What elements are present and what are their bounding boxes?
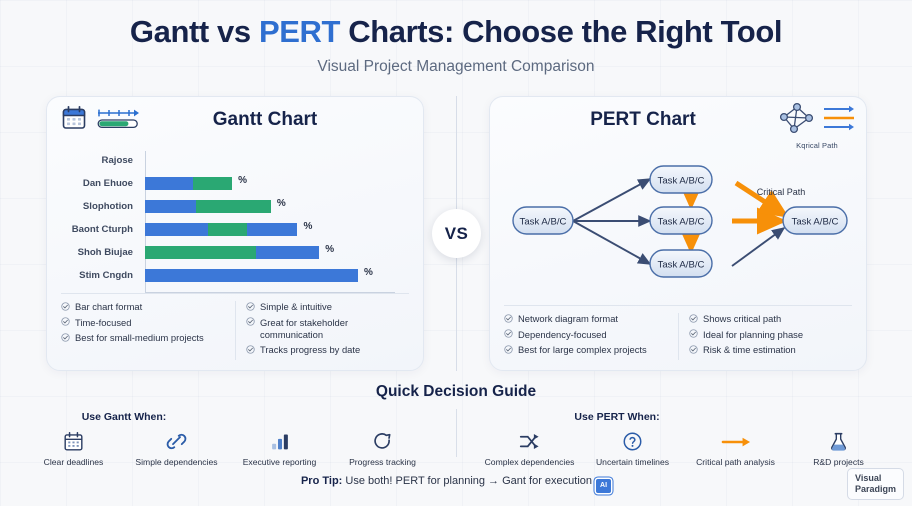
gantt-row-label: Slophotion <box>61 201 141 212</box>
feature-item-label: Time-focused <box>75 317 131 329</box>
gantt-row-label: Shoh Biujae <box>61 247 141 258</box>
gantt-row-label: Dan Ehuoe <box>61 178 141 189</box>
check-circle-icon <box>246 302 255 311</box>
gantt-bar-segment <box>145 223 208 236</box>
pert-node-bottom: Task A/B/C <box>650 250 712 277</box>
page-subtitle: Visual Project Management Comparison <box>0 58 912 76</box>
guide-item-label: Clear deadlines <box>28 457 120 467</box>
flask-icon <box>793 429 885 454</box>
pert-node-mid: Task A/B/C <box>650 207 712 234</box>
gantt-bar-track: % <box>145 177 409 190</box>
feature-item: Best for small-medium projects <box>61 332 227 344</box>
gantt-row: Slophotion% <box>61 195 409 218</box>
check-circle-icon <box>246 345 255 354</box>
gantt-bar-segment <box>145 269 358 282</box>
pert-node-label-top: Task A/B/C <box>658 176 705 187</box>
feature-item-label: Simple & intuitive <box>260 301 332 313</box>
guide-item-label: Complex dependencies <box>484 457 576 467</box>
check-circle-icon <box>504 329 513 338</box>
brand-line-2: Paradigm <box>855 484 896 495</box>
pert-node-top: Task A/B/C <box>650 166 712 193</box>
guide-item-label: Simple dependencies <box>131 457 223 467</box>
gantt-features-right: Simple & intuitiveGreat for stakeholder … <box>235 301 409 360</box>
gantt-row-label: Stim Cngdn <box>61 270 141 281</box>
gantt-bar-value: % <box>303 221 312 232</box>
feature-item: Dependency-focused <box>504 329 670 341</box>
guide-head-pert: Use PERT When: <box>456 411 912 423</box>
gantt-bar-track: % <box>145 200 409 213</box>
guide-item[interactable]: Uncertain timelines <box>587 429 679 467</box>
guide-item-label: R&D projects <box>793 457 885 467</box>
guide-column-gantt: Use Gantt When: Clear deadlinesSimple de… <box>0 411 456 467</box>
network-nodes-icon <box>778 101 816 140</box>
gantt-row: Dan Ehuoe% <box>61 172 409 195</box>
title-accent-pert: PERT <box>259 14 340 49</box>
feature-item-label: Bar chart format <box>75 301 142 313</box>
guide-head-gantt: Use Gantt When: <box>0 411 456 423</box>
feature-item-label: Best for small-medium projects <box>75 332 204 344</box>
gantt-bar-value: % <box>325 244 334 255</box>
ai-chip-icon: AI <box>596 479 611 493</box>
vs-badge: VS <box>432 209 481 258</box>
feature-item: Bar chart format <box>61 301 227 313</box>
gantt-bar-track: % <box>145 246 409 259</box>
gantt-row: Shoh Biujae% <box>61 241 409 264</box>
feature-item: Best for large complex projects <box>504 344 670 356</box>
pert-panel-header: PERT Chart <box>490 97 866 149</box>
feature-item-label: Dependency-focused <box>518 329 607 341</box>
arrow-legend-icon <box>822 101 856 140</box>
guide-columns: Use Gantt When: Clear deadlinesSimple de… <box>0 411 912 467</box>
pert-node-start: Task A/B/C <box>513 207 573 234</box>
gantt-bar-segment <box>145 246 256 259</box>
check-circle-icon <box>61 333 70 342</box>
feature-item-label: Ideal for planning phase <box>703 329 803 341</box>
pert-diagram: Task A/B/C Task A/B/C Task A/B/C Task A/… <box>500 149 856 297</box>
gantt-bar-segment <box>145 200 196 213</box>
link-icon <box>131 429 223 454</box>
pro-tip-label: Pro Tip: <box>301 475 342 487</box>
bar-chart-icon <box>234 429 326 454</box>
gantt-bar-segment <box>193 177 232 190</box>
gantt-row: Rajose <box>61 149 409 172</box>
feature-item-label: Risk & time estimation <box>703 344 796 356</box>
pert-node-end: Task A/B/C <box>783 207 847 234</box>
question-mark-icon <box>587 429 679 454</box>
pert-features-left: Network diagram formatDependency-focused… <box>504 313 678 360</box>
pert-diagram-svg: Task A/B/C Task A/B/C Task A/B/C Task A/… <box>500 149 858 297</box>
feature-item: Network diagram format <box>504 313 670 325</box>
guide-item[interactable]: Complex dependencies <box>484 429 576 467</box>
guide-column-pert: Use PERT When: Complex dependenciesUncer… <box>456 411 912 467</box>
gantt-bar-value: % <box>238 175 247 186</box>
gantt-row: Baont Cturph% <box>61 218 409 241</box>
page-title: Gantt vs PERT Charts: Choose the Right T… <box>0 14 912 51</box>
gantt-rows: RajoseDan Ehuoe%Slophotion%Baont Cturph%… <box>61 149 409 287</box>
pro-tip-text: Use both! PERT for planning → Gant for e… <box>342 475 592 487</box>
title-part-1: Gantt vs <box>130 14 259 49</box>
pert-features-right: Shows critical pathIdeal for planning ph… <box>678 313 852 360</box>
check-circle-icon <box>689 329 698 338</box>
feature-item: Simple & intuitive <box>246 301 409 313</box>
guide-items-gantt: Clear deadlinesSimple dependenciesExecut… <box>0 429 456 467</box>
gantt-bar-track <box>145 154 409 167</box>
brand-badge: Visual Paradigm <box>847 468 904 500</box>
guide-item-label: Executive reporting <box>234 457 326 467</box>
feature-item: Great for stakeholder communication <box>246 317 409 341</box>
refresh-icon <box>337 429 429 454</box>
shuffle-icon <box>484 429 576 454</box>
check-circle-icon <box>246 317 255 326</box>
gantt-features: Bar chart formatTime-focusedBest for sma… <box>61 293 409 360</box>
feature-item: Time-focused <box>61 317 227 329</box>
gantt-bar-segment <box>145 177 193 190</box>
feature-item: Ideal for planning phase <box>689 329 852 341</box>
gantt-bar-value: % <box>277 198 286 209</box>
pert-node-label-bottom: Task A/B/C <box>658 260 705 271</box>
gantt-bar[interactable] <box>145 200 271 213</box>
gantt-row: Stim Cngdn% <box>61 264 409 287</box>
guide-item-label: Uncertain timelines <box>587 457 679 467</box>
gantt-bar[interactable] <box>145 223 297 236</box>
title-part-2: Charts: Choose the Right Tool <box>340 14 782 49</box>
pert-panel: PERT Chart <box>489 96 867 371</box>
gantt-bar-segment <box>208 223 247 236</box>
feature-item-label: Network diagram format <box>518 313 618 325</box>
pert-header-icons: Kqrical Path <box>778 101 856 150</box>
feature-item-label: Shows critical path <box>703 313 781 325</box>
gantt-bar[interactable] <box>145 269 358 282</box>
check-circle-icon <box>61 317 70 326</box>
feature-item-label: Great for stakeholder communication <box>260 317 409 341</box>
gantt-bar-value: % <box>364 267 373 278</box>
quick-decision-guide: Quick Decision Guide Use Gantt When: Cle… <box>0 383 912 467</box>
gantt-bar-segment <box>247 223 298 236</box>
feature-item-label: Tracks progress by date <box>260 344 360 356</box>
calendar-icon <box>28 429 120 454</box>
gantt-row-label: Baont Cturph <box>61 224 141 235</box>
check-circle-icon <box>689 314 698 323</box>
pro-tip: Pro Tip: Use both! PERT for planning → G… <box>0 475 912 493</box>
guide-items-pert: Complex dependenciesUncertain timelinesC… <box>456 429 912 467</box>
feature-item: Tracks progress by date <box>246 344 409 356</box>
gantt-bar-segment <box>196 200 271 213</box>
gantt-bar-segment <box>256 246 319 259</box>
feature-item: Risk & time estimation <box>689 344 852 356</box>
feature-item: Shows critical path <box>689 313 852 325</box>
pert-node-label-start: Task A/B/C <box>520 217 567 228</box>
brand-line-1: Visual <box>855 473 896 484</box>
pert-features: Network diagram formatDependency-focused… <box>504 305 852 360</box>
arrow-right-icon <box>690 429 782 454</box>
gantt-bar-track: % <box>145 269 409 282</box>
check-circle-icon <box>689 345 698 354</box>
pert-node-label-mid: Task A/B/C <box>658 217 705 228</box>
guide-item-label: Critical path analysis <box>690 457 782 467</box>
gantt-bar-track: % <box>145 223 409 236</box>
check-circle-icon <box>61 302 70 311</box>
guide-item[interactable]: Executive reporting <box>234 429 326 467</box>
gantt-features-left: Bar chart formatTime-focusedBest for sma… <box>61 301 235 360</box>
guide-item[interactable]: Critical path analysis <box>690 429 782 467</box>
gantt-row-label: Rajose <box>61 155 141 166</box>
guide-item[interactable]: Clear deadlines <box>28 429 120 467</box>
gantt-panel-title: Gantt Chart <box>47 109 423 131</box>
gantt-bar[interactable] <box>145 246 319 259</box>
critical-path-label: Critical Path <box>757 187 806 197</box>
gantt-panel: Gantt Chart RajoseDan Ehuoe%Slophotion%B… <box>46 96 424 371</box>
guide-item[interactable]: Simple dependencies <box>131 429 223 467</box>
page-header: Gantt vs PERT Charts: Choose the Right T… <box>0 14 912 76</box>
gantt-chart: RajoseDan Ehuoe%Slophotion%Baont Cturph%… <box>61 149 409 297</box>
gantt-bar[interactable] <box>145 177 232 190</box>
guide-item[interactable]: R&D projects <box>793 429 885 467</box>
feature-item-label: Best for large complex projects <box>518 344 647 356</box>
pert-node-label-end: Task A/B/C <box>792 217 839 228</box>
guide-item-label: Progress tracking <box>337 457 429 467</box>
check-circle-icon <box>504 345 513 354</box>
gantt-panel-header: Gantt Chart <box>47 97 423 149</box>
check-circle-icon <box>504 314 513 323</box>
guide-item[interactable]: Progress tracking <box>337 429 429 467</box>
guide-title: Quick Decision Guide <box>0 383 912 401</box>
